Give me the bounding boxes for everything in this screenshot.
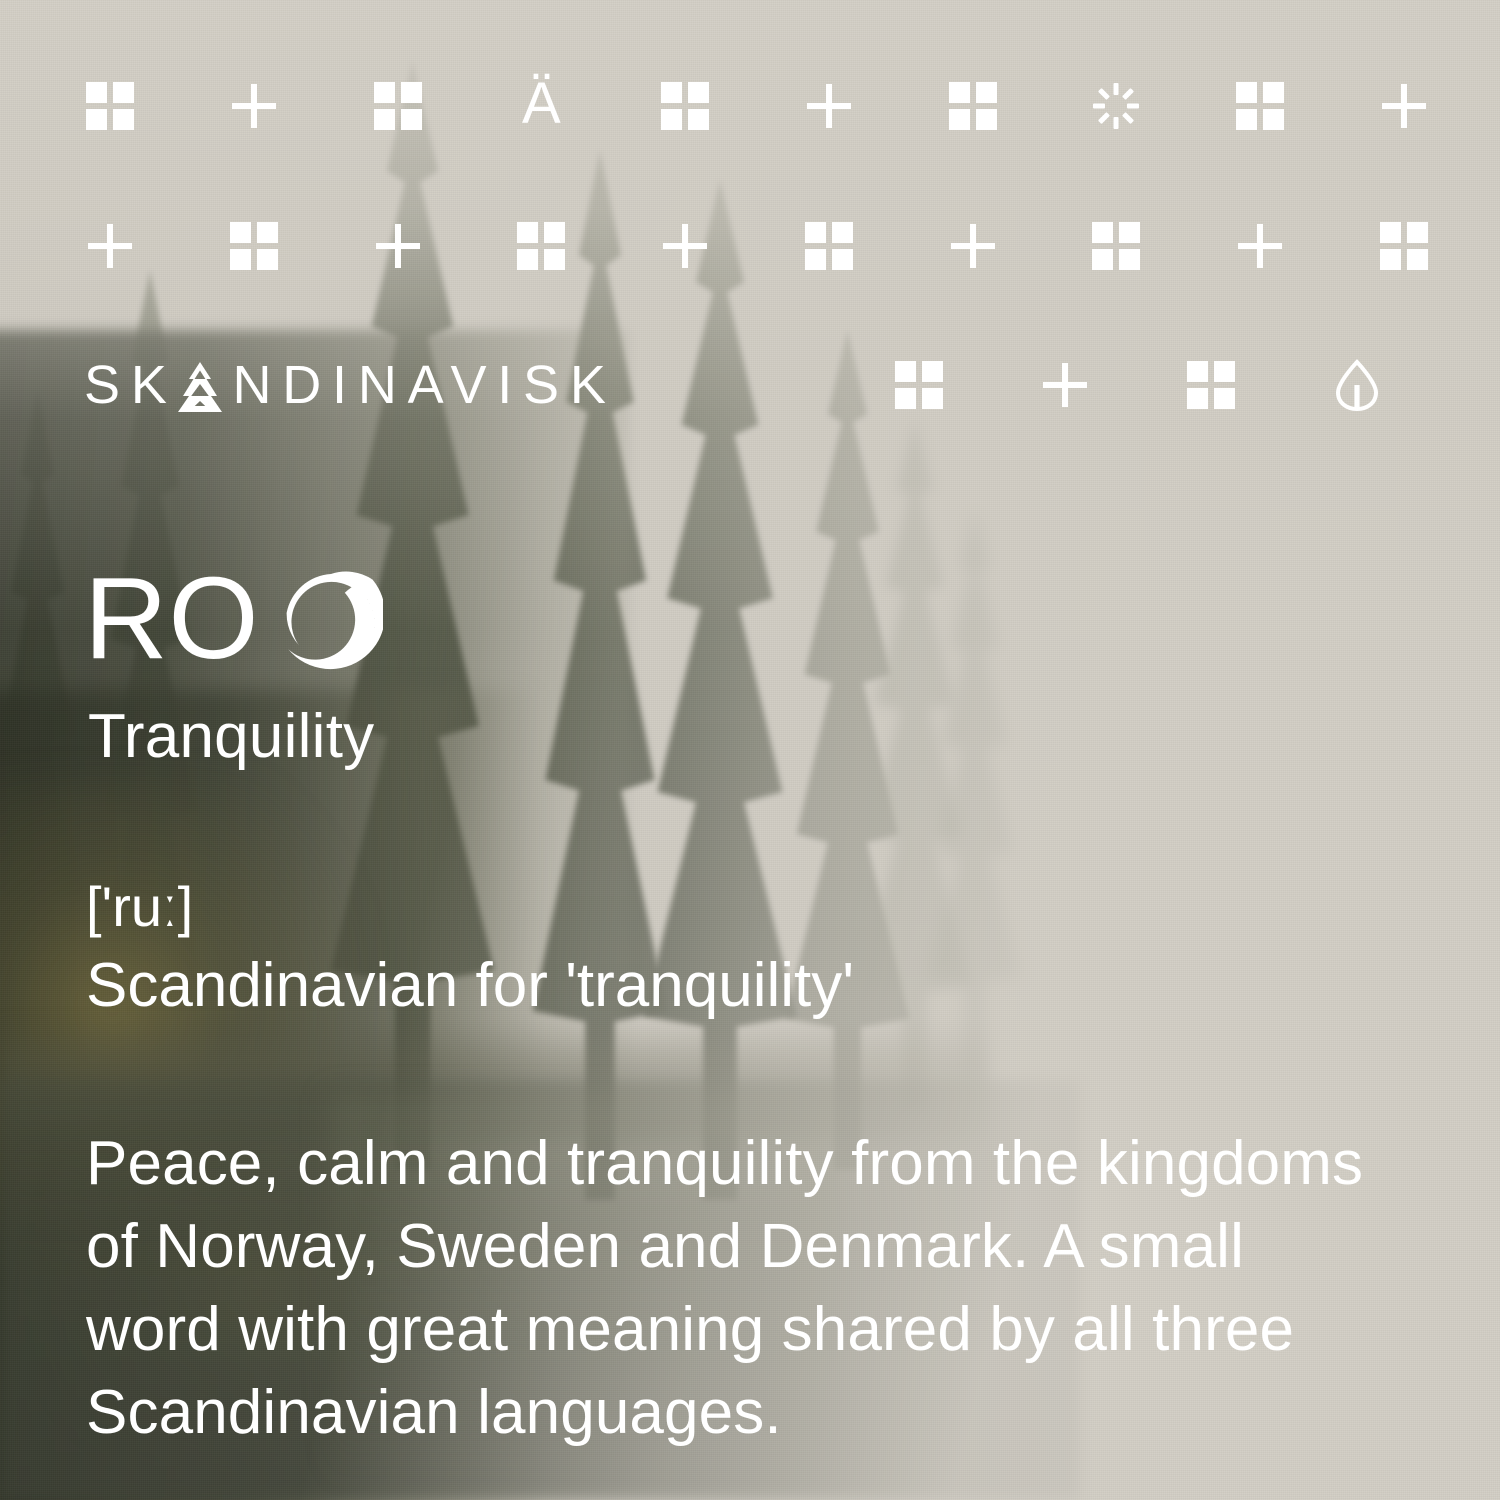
subtitle: Tranquility [88, 704, 374, 771]
plus-icon [1378, 80, 1430, 132]
pine-tree-glyph [178, 362, 222, 412]
description-line: word with great meaning shared by all th… [86, 1288, 1454, 1371]
four-square-grid-icon [1090, 220, 1142, 272]
logo-row-icons [846, 359, 1430, 411]
four-square-grid-icon [893, 359, 945, 411]
wordmark-prefix: SK [84, 358, 178, 412]
decorative-icon-row-2 [84, 218, 1430, 274]
four-square-grid-icon [1185, 359, 1237, 411]
plus-icon [947, 220, 999, 272]
logo-icon-slot [992, 359, 1138, 411]
a-umlaut-letter: Ä [515, 80, 567, 132]
crescent-moon-icon [279, 570, 383, 674]
translation-line: Scandinavian for 'tranquility' [86, 952, 854, 1020]
a-umlaut-letter: Ä [522, 75, 561, 133]
four-square-grid-icon [228, 220, 280, 272]
plus-icon [228, 80, 280, 132]
logo-icon-slot [1138, 359, 1284, 411]
four-square-grid-icon [1234, 80, 1286, 132]
plus-icon [659, 220, 711, 272]
card-content: Ä SK NDINAVISK RO [0, 0, 1500, 1500]
description-line: of Norway, Sweden and Denmark. A small [86, 1205, 1454, 1288]
plus-icon [84, 220, 136, 272]
four-square-grid-icon [659, 80, 711, 132]
skandinavisk-ro-card: Ä SK NDINAVISK RO [0, 0, 1500, 1500]
logo-icon-slot [846, 359, 992, 411]
headline-block: RO [84, 560, 383, 676]
four-square-grid-icon [515, 220, 567, 272]
four-square-grid-icon [1378, 220, 1430, 272]
page-title: RO [84, 560, 259, 676]
wordmark-suffix: NDINAVISK [232, 358, 616, 412]
plus-icon [1039, 359, 1091, 411]
brand-logo-row: SK NDINAVISK [84, 358, 1430, 412]
phonetic-transcription: ['ruː] [86, 876, 193, 938]
description-line: Peace, calm and tranquility from the kin… [86, 1122, 1454, 1205]
plus-icon [1234, 220, 1286, 272]
sunburst-icon [1090, 80, 1142, 132]
logo-icon-slot [1284, 359, 1430, 411]
plus-icon [803, 80, 855, 132]
description-paragraph: Peace, calm and tranquility from the kin… [86, 1122, 1454, 1454]
brand-wordmark[interactable]: SK NDINAVISK [84, 358, 617, 412]
four-square-grid-icon [947, 80, 999, 132]
decorative-icon-row-1: Ä [84, 78, 1430, 134]
four-square-grid-icon [803, 220, 855, 272]
four-square-grid-icon [372, 80, 424, 132]
droplet-leaf-icon [1331, 359, 1383, 411]
four-square-grid-icon [84, 80, 136, 132]
plus-icon [372, 220, 424, 272]
description-line: Scandinavian languages. [86, 1371, 1454, 1454]
